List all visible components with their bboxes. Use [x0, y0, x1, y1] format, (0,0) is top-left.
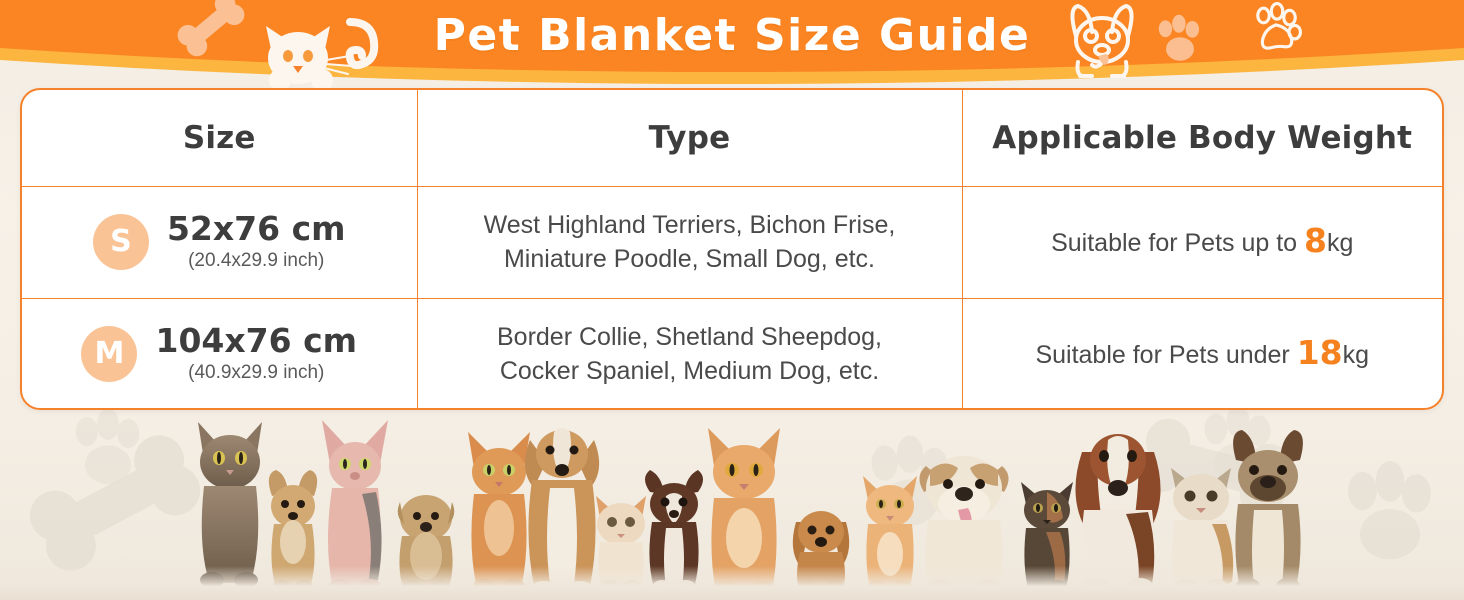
column-header-size: Size: [22, 90, 417, 186]
table-row: S 52x76 cm (20.4x29.9 inch) West Highlan…: [22, 186, 1442, 298]
type-cell: West Highland Terriers, Bichon Frise, Mi…: [417, 186, 962, 298]
type-cell: Border Collie, Shetland Sheepdog, Cocker…: [417, 298, 962, 410]
size-cm-value: 52x76 cm: [167, 210, 346, 248]
pet-blanket-size-guide: Pet Blanket Size Guide Size Type Applica…: [0, 0, 1464, 600]
weight-cell: Suitable for Pets up to 8kg: [962, 186, 1442, 298]
page-title: Pet Blanket Size Guide: [0, 8, 1464, 64]
weight-unit: kg: [1327, 229, 1353, 257]
pet-photo-maine-coon-cat: [190, 400, 270, 592]
size-cell: M 104x76 cm (40.9x29.9 inch): [22, 298, 417, 410]
weight-cell: Suitable for Pets under 18kg: [962, 298, 1442, 410]
weight-value: 8: [1304, 221, 1327, 260]
size-cell: S 52x76 cm (20.4x29.9 inch): [22, 186, 417, 298]
size-inch-value: (40.9x29.9 inch): [155, 360, 357, 386]
size-cm-value: 104x76 cm: [155, 322, 357, 360]
weight-prefix: Suitable for Pets under: [1035, 341, 1296, 369]
table-header-row: Size Type Applicable Body Weight: [22, 90, 1442, 186]
size-table-card: Size Type Applicable Body Weight S 52x76…: [20, 88, 1444, 410]
type-line-2: Cocker Spaniel, Medium Dog, etc.: [428, 354, 952, 388]
type-line-1: West Highland Terriers, Bichon Frise,: [428, 208, 952, 242]
size-badge-s: S: [93, 214, 149, 270]
pets-ground-shadow: [0, 566, 1464, 600]
column-header-type: Type: [417, 90, 962, 186]
weight-prefix: Suitable for Pets up to: [1051, 229, 1304, 257]
type-line-1: Border Collie, Shetland Sheepdog,: [428, 320, 952, 354]
pets-photo-strip: [0, 385, 1464, 600]
type-line-2: Miniature Poodle, Small Dog, etc.: [428, 242, 952, 276]
size-table: Size Type Applicable Body Weight S 52x76…: [22, 90, 1442, 410]
column-header-weight: Applicable Body Weight: [962, 90, 1442, 186]
size-inch-value: (20.4x29.9 inch): [167, 248, 346, 274]
weight-value: 18: [1297, 333, 1343, 372]
size-badge-m: M: [81, 326, 137, 382]
table-row: M 104x76 cm (40.9x29.9 inch) Border Coll…: [22, 298, 1442, 410]
weight-unit: kg: [1343, 341, 1369, 369]
